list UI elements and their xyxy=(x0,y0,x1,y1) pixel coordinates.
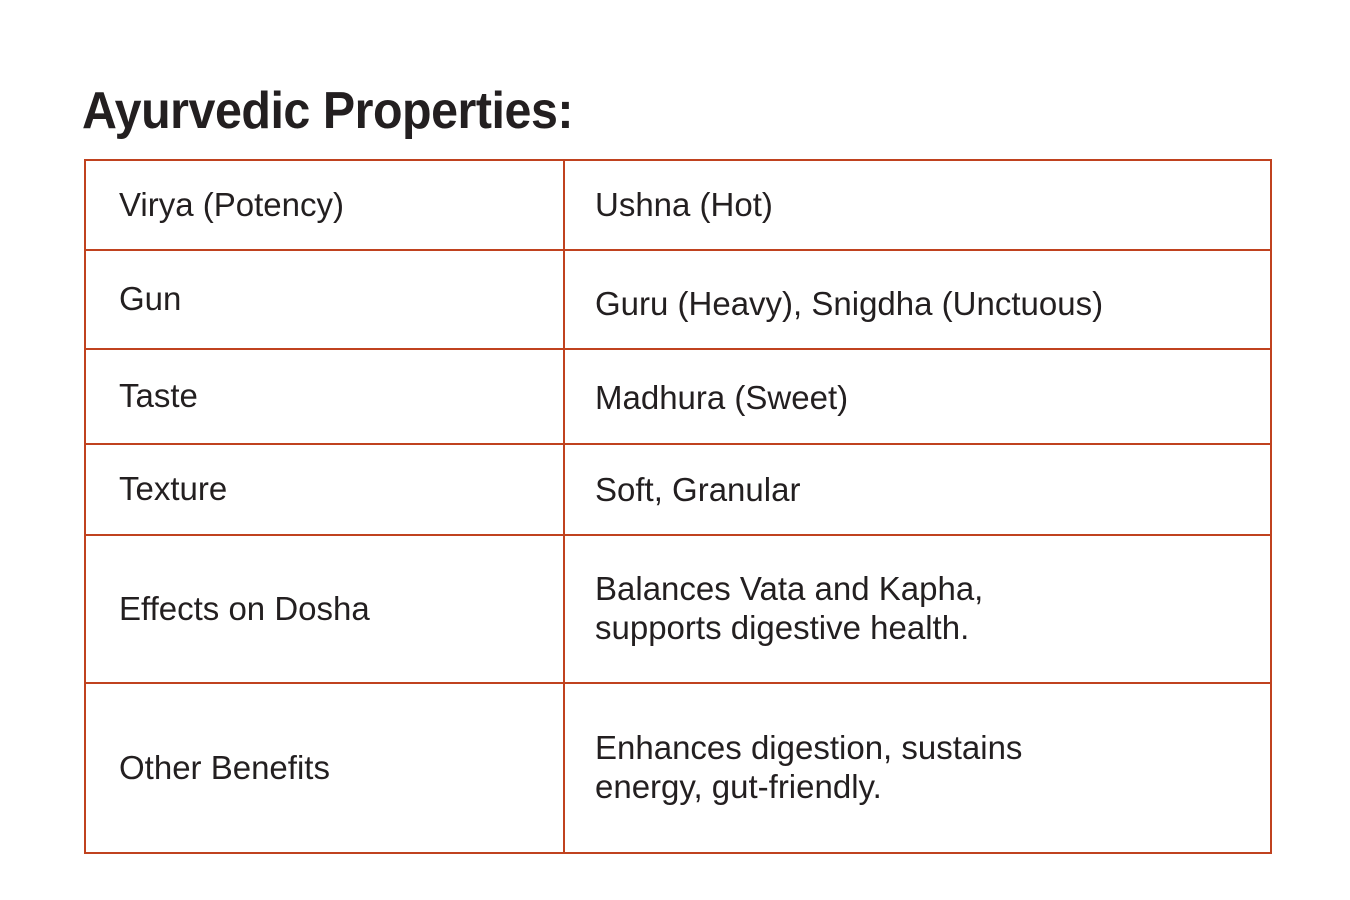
page-title: Ayurvedic Properties: xyxy=(82,82,573,140)
table-row: Other Benefits Enhances digestion, susta… xyxy=(85,683,1271,853)
property-value: Balances Vata and Kapha, supports digest… xyxy=(565,570,1270,647)
property-label-cell: Virya (Potency) xyxy=(85,160,564,250)
property-value-cell: Ushna (Hot) xyxy=(564,160,1271,250)
property-label-cell: Texture xyxy=(85,444,564,535)
property-value: Soft, Granular xyxy=(565,471,1270,510)
table-row: Virya (Potency) Ushna (Hot) xyxy=(85,160,1271,250)
table-row: Gun Guru (Heavy), Snigdha (Unctuous) xyxy=(85,250,1271,349)
property-label-cell: Gun xyxy=(85,250,564,349)
property-label: Gun xyxy=(86,280,563,319)
property-value: Enhances digestion, sustains energy, gut… xyxy=(565,729,1270,806)
property-value: Madhura (Sweet) xyxy=(565,379,1270,418)
property-value-cell: Madhura (Sweet) xyxy=(564,349,1271,444)
property-label: Texture xyxy=(86,470,563,509)
property-value: Guru (Heavy), Snigdha (Unctuous) xyxy=(565,285,1270,324)
property-value-cell: Guru (Heavy), Snigdha (Unctuous) xyxy=(564,250,1271,349)
property-value-cell: Soft, Granular xyxy=(564,444,1271,535)
table-row: Texture Soft, Granular xyxy=(85,444,1271,535)
table-row: Taste Madhura (Sweet) xyxy=(85,349,1271,444)
property-label-cell: Effects on Dosha xyxy=(85,535,564,683)
property-label: Other Benefits xyxy=(86,749,563,788)
table-body: Virya (Potency) Ushna (Hot) Gun Guru (He… xyxy=(85,160,1271,853)
property-label-cell: Taste xyxy=(85,349,564,444)
property-value-cell: Enhances digestion, sustains energy, gut… xyxy=(564,683,1271,853)
property-label: Virya (Potency) xyxy=(86,186,563,225)
property-value: Ushna (Hot) xyxy=(565,186,1270,225)
ayurvedic-properties-page: Ayurvedic Properties: Virya (Potency) Us… xyxy=(0,0,1350,900)
ayurvedic-properties-table: Virya (Potency) Ushna (Hot) Gun Guru (He… xyxy=(84,159,1272,854)
property-label: Effects on Dosha xyxy=(86,590,563,629)
table-row: Effects on Dosha Balances Vata and Kapha… xyxy=(85,535,1271,683)
property-label-cell: Other Benefits xyxy=(85,683,564,853)
property-value-cell: Balances Vata and Kapha, supports digest… xyxy=(564,535,1271,683)
property-label: Taste xyxy=(86,377,563,416)
